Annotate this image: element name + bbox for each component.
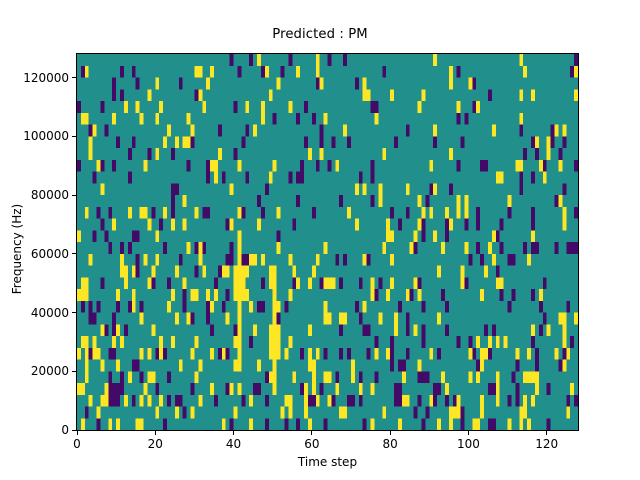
y-tick-label: 60000 <box>31 247 69 261</box>
matplotlib-figure: Predicted : PM 0204060801001200200004000… <box>0 0 640 480</box>
y-tick-mark <box>72 371 76 372</box>
y-tick-mark <box>72 430 76 431</box>
x-tick-label: 40 <box>226 437 241 451</box>
x-tick-mark <box>311 431 312 435</box>
x-tick-mark <box>546 431 547 435</box>
x-tick-label: 120 <box>535 437 558 451</box>
x-tick-label: 60 <box>304 437 319 451</box>
x-tick-mark <box>468 431 469 435</box>
y-tick-label: 100000 <box>23 129 69 143</box>
x-tick-label: 80 <box>382 437 397 451</box>
y-tick-label: 20000 <box>31 364 69 378</box>
y-tick-label: 0 <box>61 423 69 437</box>
x-tick-mark <box>233 431 234 435</box>
y-tick-label: 40000 <box>31 306 69 320</box>
y-tick-mark <box>72 195 76 196</box>
y-tick-mark <box>72 136 76 137</box>
page-title: Predicted : PM <box>0 27 640 42</box>
x-axis-label: Time step <box>76 455 579 469</box>
x-tick-mark <box>155 431 156 435</box>
y-axis-label: Frequency (Hz) <box>10 179 24 319</box>
y-tick-mark <box>72 77 76 78</box>
y-tick-label: 80000 <box>31 188 69 202</box>
x-tick-mark <box>77 431 78 435</box>
x-tick-label: 0 <box>73 437 81 451</box>
x-tick-label: 20 <box>148 437 163 451</box>
y-tick-mark <box>72 253 76 254</box>
heatmap-image <box>77 54 578 430</box>
x-tick-mark <box>390 431 391 435</box>
heatmap-axes[interactable] <box>76 53 579 431</box>
y-tick-mark <box>72 312 76 313</box>
x-tick-label: 100 <box>457 437 480 451</box>
y-tick-label: 120000 <box>23 71 69 85</box>
